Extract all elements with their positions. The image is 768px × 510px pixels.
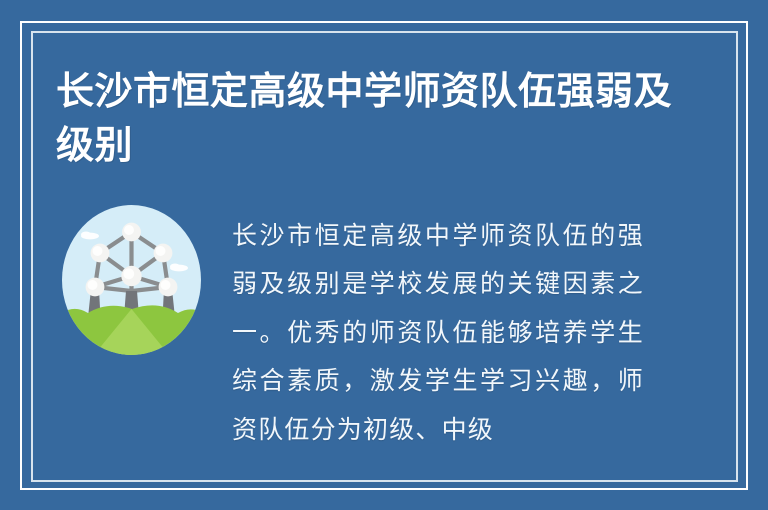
atomium-landmark-illustration bbox=[62, 205, 201, 355]
article-cover-card: 长沙市恒定高级中学师资队伍强弱及级别 bbox=[0, 0, 768, 510]
article-body-text: 长沙市恒定高级中学师资队伍的强弱及级别是学校发展的关键因素之一。优秀的师资队伍能… bbox=[232, 212, 644, 454]
page-title: 长沙市恒定高级中学师资队伍强弱及级别 bbox=[56, 64, 676, 172]
